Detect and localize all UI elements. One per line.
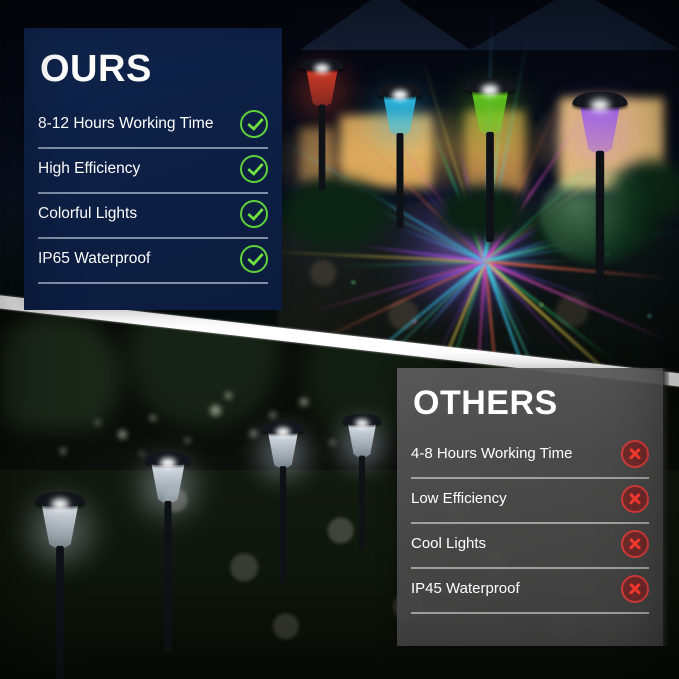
bokeh-dot bbox=[300, 398, 308, 406]
tick-glyph bbox=[247, 159, 264, 176]
check-icon bbox=[240, 245, 268, 273]
lamp-bulb bbox=[392, 90, 408, 100]
others-feature-list: 4-8 Hours Working TimeLow EfficiencyCool… bbox=[397, 434, 663, 614]
lamp-pole bbox=[56, 546, 64, 679]
lamp-pole bbox=[486, 132, 494, 242]
lamp-pole bbox=[359, 456, 365, 550]
feature-row: 8-12 Hours Working Time bbox=[38, 104, 268, 144]
ours-comparison-panel: OURS 8-12 Hours Working TimeHigh Efficie… bbox=[24, 28, 282, 310]
others-comparison-panel: OTHERS 4-8 Hours Working TimeLow Efficie… bbox=[397, 368, 663, 646]
feature-row: 4-8 Hours Working Time bbox=[411, 434, 649, 474]
bokeh-dot bbox=[210, 405, 221, 416]
cross-icon bbox=[621, 575, 649, 603]
bokeh-dot bbox=[270, 412, 276, 418]
cross-icon bbox=[621, 530, 649, 558]
lamp-pole bbox=[397, 133, 404, 228]
lamp-pole bbox=[596, 151, 604, 283]
bush bbox=[438, 186, 528, 242]
lamp-bulb bbox=[355, 419, 369, 428]
tick-glyph bbox=[247, 249, 264, 266]
feature-row: Colorful Lights bbox=[38, 194, 268, 234]
feature-row: IP45 Waterproof bbox=[411, 569, 649, 609]
feature-row: Cool Lights bbox=[411, 524, 649, 564]
lamp-bulb bbox=[314, 64, 329, 73]
row-divider bbox=[38, 282, 268, 284]
lamp-bulb bbox=[481, 85, 499, 96]
ours-title: OURS bbox=[40, 50, 282, 88]
cross-icon bbox=[621, 440, 649, 468]
feature-row: High Efficiency bbox=[38, 149, 268, 189]
bokeh-dot bbox=[150, 415, 156, 421]
cross-icon bbox=[621, 485, 649, 513]
lamp-bulb bbox=[160, 458, 176, 468]
bush bbox=[280, 178, 390, 248]
tick-glyph bbox=[247, 114, 264, 131]
feature-label: Low Efficiency bbox=[411, 490, 513, 508]
feature-label: IP65 Waterproof bbox=[38, 250, 156, 268]
feature-label: Cool Lights bbox=[411, 535, 492, 553]
feature-label: 4-8 Hours Working Time bbox=[411, 445, 578, 463]
lamp-bulb bbox=[51, 499, 69, 510]
check-icon bbox=[240, 110, 268, 138]
lamp-pole bbox=[319, 105, 326, 191]
lamp-bulb bbox=[590, 99, 609, 111]
ours-feature-list: 8-12 Hours Working TimeHigh EfficiencyCo… bbox=[24, 104, 282, 284]
feature-label: High Efficiency bbox=[38, 160, 146, 178]
lamp-pole bbox=[165, 501, 172, 651]
bokeh-dot bbox=[60, 448, 66, 454]
lamp-pole bbox=[280, 466, 286, 583]
check-icon bbox=[240, 200, 268, 228]
feature-row: Low Efficiency bbox=[411, 479, 649, 519]
bokeh-dot bbox=[118, 430, 127, 439]
infographic-canvas: OURS 8-12 Hours Working TimeHigh Efficie… bbox=[0, 0, 679, 679]
feature-label: IP45 Waterproof bbox=[411, 580, 526, 598]
feature-label: 8-12 Hours Working Time bbox=[38, 115, 219, 133]
bokeh-dot bbox=[225, 392, 232, 399]
feature-row: IP65 Waterproof bbox=[38, 239, 268, 279]
row-divider bbox=[411, 612, 649, 614]
others-title: OTHERS bbox=[413, 386, 663, 420]
check-icon bbox=[240, 155, 268, 183]
tick-glyph bbox=[247, 204, 264, 221]
feature-label: Colorful Lights bbox=[38, 205, 143, 223]
bokeh-dot bbox=[95, 420, 100, 425]
lamp-bulb bbox=[276, 427, 290, 436]
